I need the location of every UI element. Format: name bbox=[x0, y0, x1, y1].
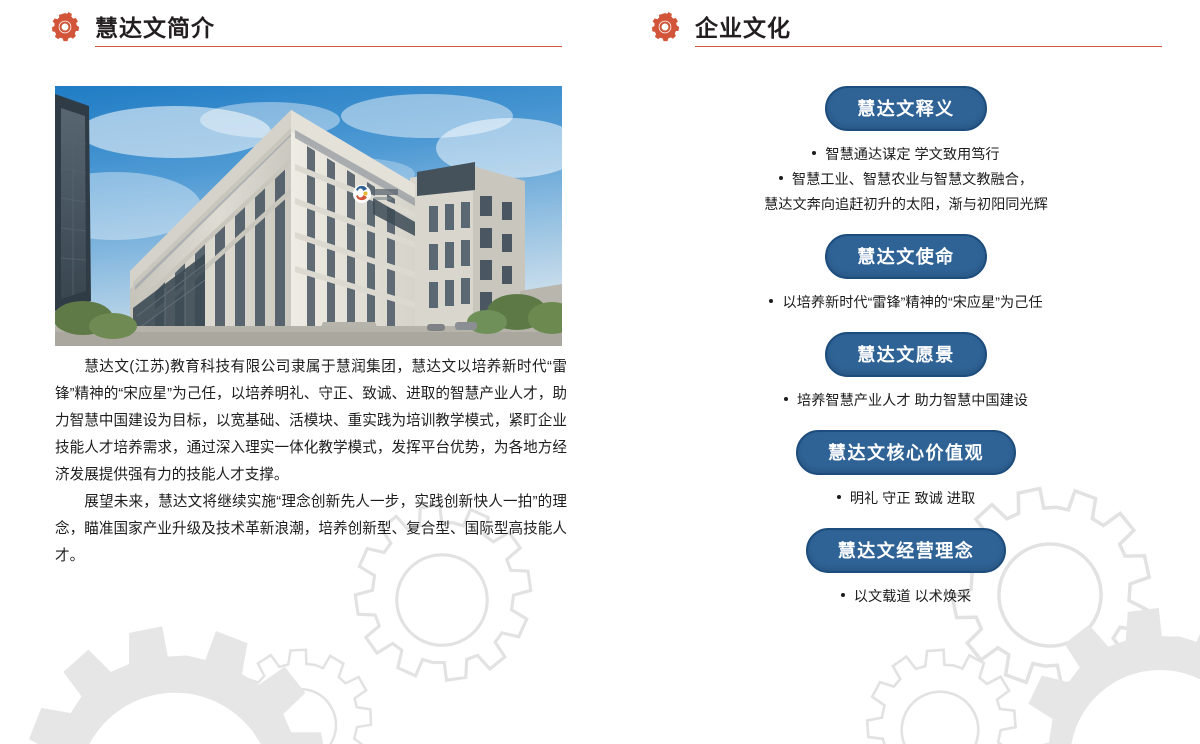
bullet-line: 以培养新时代“雷锋”精神的“宋应星”为己任 bbox=[650, 291, 1162, 316]
bullet-dot-icon bbox=[841, 593, 845, 597]
bullet-text: 以培养新时代“雷锋”精神的“宋应星”为己任 bbox=[782, 295, 1042, 311]
culture-pill-management-philosophy[interactable]: 慧达文经营理念 bbox=[806, 528, 1007, 573]
slide-page: 慧达文简介 bbox=[0, 0, 1200, 744]
gear-icon bbox=[650, 12, 680, 42]
culture-pill-vision[interactable]: 慧达文愿景 bbox=[825, 332, 987, 377]
bullet-dot-icon bbox=[837, 495, 841, 499]
culture-bullets: 明礼 守正 致诚 进取 bbox=[650, 487, 1162, 512]
bullet-line: 明礼 守正 致诚 进取 bbox=[650, 487, 1162, 512]
culture-block: 慧达文使命 以培养新时代“雷锋”精神的“宋应星”为己任 bbox=[650, 234, 1162, 316]
culture-pill-mission[interactable]: 慧达文使命 bbox=[825, 234, 987, 279]
culture-bullets: 培养智慧产业人才 助力智慧中国建设 bbox=[650, 389, 1162, 414]
corporate-culture-divider bbox=[695, 46, 1162, 47]
bullet-continuation-line: 慧达文奔向追赶初升的太阳，渐与初阳同光辉 bbox=[650, 193, 1162, 218]
culture-bullets: 以培养新时代“雷锋”精神的“宋应星”为己任 bbox=[650, 291, 1162, 316]
bullet-text: 智慧工业、智慧农业与智慧文教融合， bbox=[792, 172, 1033, 188]
bullet-line: 智慧通达谋定 学文致用笃行 bbox=[650, 143, 1162, 168]
corporate-culture-title: 企业文化 bbox=[695, 9, 791, 43]
bullet-dot-icon bbox=[769, 299, 773, 303]
company-intro-header: 慧达文简介 bbox=[50, 0, 562, 58]
company-building-photo bbox=[55, 86, 562, 346]
culture-block-list: 慧达文释义 智慧通达谋定 学文致用笃行 智慧工业、智慧农业与智慧文教融合， 慧达… bbox=[650, 86, 1162, 626]
bullet-text: 明礼 守正 致诚 进取 bbox=[850, 491, 975, 507]
bullet-line: 培养智慧产业人才 助力智慧中国建设 bbox=[650, 389, 1162, 414]
culture-pill-core-values[interactable]: 慧达文核心价值观 bbox=[796, 430, 1016, 475]
company-intro-title: 慧达文简介 bbox=[95, 9, 215, 43]
bullet-dot-icon bbox=[784, 397, 788, 401]
culture-pill-definition[interactable]: 慧达文释义 bbox=[825, 86, 987, 131]
culture-block: 慧达文核心价值观 明礼 守正 致诚 进取 bbox=[650, 430, 1162, 512]
bullet-text: 培养智慧产业人才 助力智慧中国建设 bbox=[797, 393, 1028, 409]
company-intro-divider bbox=[95, 46, 562, 47]
right-column: 企业文化 慧达文释义 智慧通达谋定 学文致用笃行 智慧工业、智慧农业与智慧文教融… bbox=[650, 0, 1162, 58]
culture-block: 慧达文释义 智慧通达谋定 学文致用笃行 智慧工业、智慧农业与智慧文教融合， 慧达… bbox=[650, 86, 1162, 218]
culture-block: 慧达文经营理念 以文载道 以术焕采 bbox=[650, 528, 1162, 610]
intro-paragraph-2: 展望未来，慧达文将继续实施“理念创新先人一步，实践创新快人一拍”的理念，瞄准国家… bbox=[55, 489, 567, 570]
culture-bullets: 智慧通达谋定 学文致用笃行 智慧工业、智慧农业与智慧文教融合， 慧达文奔向追赶初… bbox=[650, 143, 1162, 218]
bullet-text: 以文载道 以术焕采 bbox=[854, 589, 971, 605]
bullet-text: 智慧通达谋定 学文致用笃行 bbox=[825, 147, 999, 163]
corporate-culture-header: 企业文化 bbox=[650, 0, 1162, 58]
bullet-line: 智慧工业、智慧农业与智慧文教融合， bbox=[650, 168, 1162, 193]
bullet-line: 以文载道 以术焕采 bbox=[650, 585, 1162, 610]
culture-bullets: 以文载道 以术焕采 bbox=[650, 585, 1162, 610]
left-column: 慧达文简介 bbox=[50, 0, 562, 58]
company-intro-text: 慧达文(江苏)教育科技有限公司隶属于慧润集团，慧达文以培养新时代“雷锋”精神的“… bbox=[55, 354, 567, 570]
gear-icon bbox=[50, 12, 80, 42]
bullet-dot-icon bbox=[779, 176, 783, 180]
culture-block: 慧达文愿景 培养智慧产业人才 助力智慧中国建设 bbox=[650, 332, 1162, 414]
intro-paragraph-1: 慧达文(江苏)教育科技有限公司隶属于慧润集团，慧达文以培养新时代“雷锋”精神的“… bbox=[55, 354, 567, 489]
bullet-dot-icon bbox=[812, 151, 816, 155]
